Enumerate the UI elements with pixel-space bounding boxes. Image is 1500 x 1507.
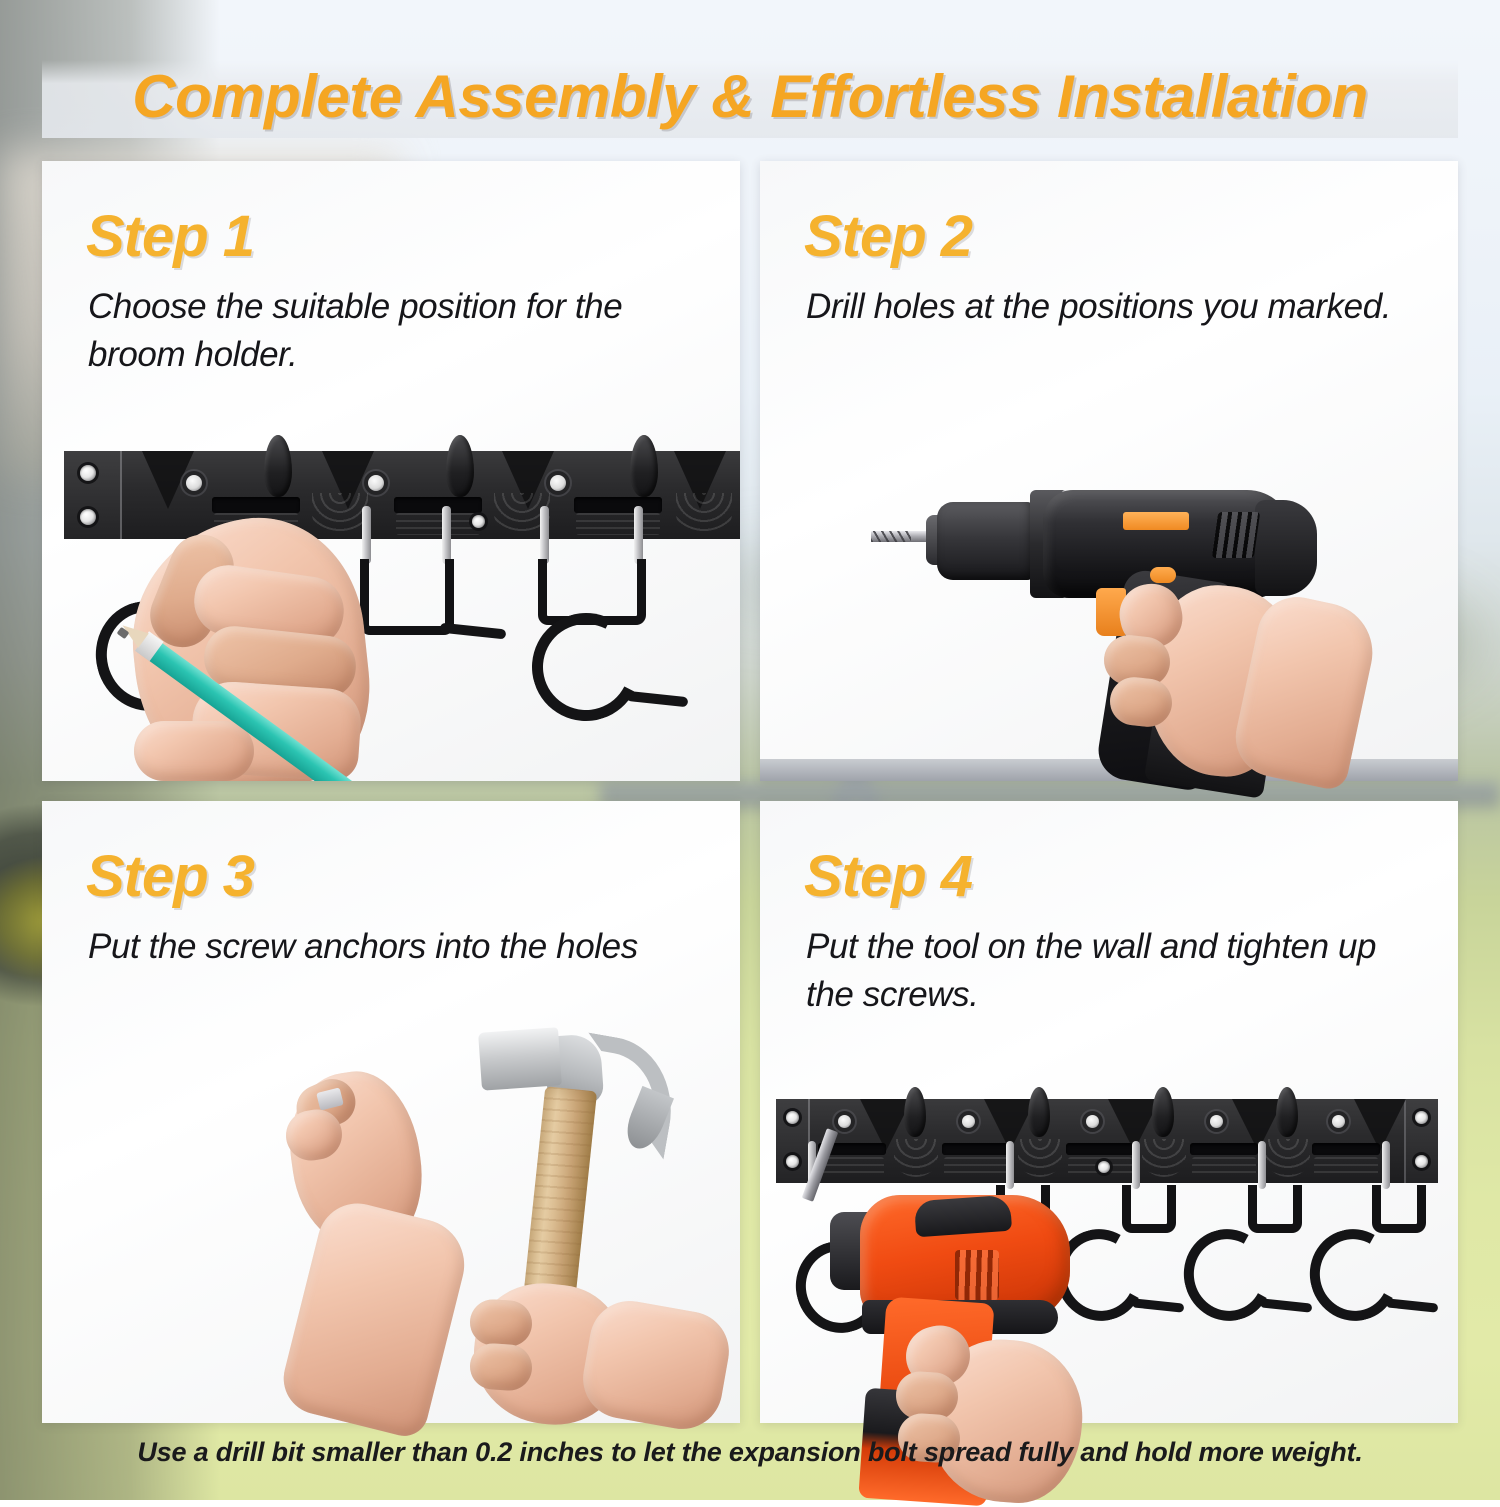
hook-stem: [634, 506, 643, 564]
step-panel-1: Step 1 Choose the suitable position for …: [42, 161, 740, 781]
step-1-title: Step 1: [86, 203, 254, 270]
rack-slot: [1066, 1143, 1134, 1155]
hook-u-4-3: [1122, 1185, 1176, 1233]
step-3-description: Put the screw anchors into the holes: [88, 923, 706, 971]
step-2-description: Drill holes at the positions you marked.: [806, 283, 1424, 331]
step-4-description: Put the tool on the wall and tighten up …: [806, 923, 1424, 1019]
hook-stem: [362, 506, 371, 564]
rack-screw-hole: [1415, 1155, 1428, 1168]
wrist: [134, 721, 254, 781]
rack-ridges: [1314, 1157, 1378, 1177]
rack-screw-hole: [1415, 1111, 1428, 1124]
rack-hole: [550, 475, 566, 491]
rack-endplate-left: [64, 451, 122, 539]
drill-dark-accent-4: [914, 1195, 1012, 1238]
rack-screw-hole: [80, 509, 96, 525]
rack-ridges: [396, 513, 480, 535]
rack-ridges: [944, 1157, 1008, 1177]
finger-3b: [468, 1298, 533, 1348]
rack-screw-hole: [472, 515, 485, 528]
rack-slot: [1312, 1143, 1380, 1155]
hook-u-4-4: [1248, 1185, 1302, 1233]
rack-hole: [1210, 1115, 1223, 1128]
hook-stem: [1382, 1141, 1390, 1189]
rack-slot: [574, 497, 662, 513]
drill-orange-accent-2: [1123, 512, 1189, 530]
rack-slot: [1190, 1143, 1258, 1155]
hammer-head: [478, 1027, 562, 1090]
hook-u-1: [360, 559, 454, 635]
rack-screw-hole: [80, 465, 96, 481]
hook-stem: [1006, 1141, 1014, 1189]
step-1-description: Choose the suitable position for the bro…: [88, 283, 706, 379]
rack-slot: [942, 1143, 1010, 1155]
drill-chuck-2: [937, 502, 1035, 580]
rack-screw-hole: [1098, 1161, 1110, 1173]
product-infographic: Complete Assembly & Effortless Installat…: [0, 0, 1500, 1500]
step-2-title: Step 2: [804, 203, 972, 270]
step-4-title: Step 4: [804, 843, 972, 910]
hook-stem: [1258, 1141, 1266, 1189]
rack-fan: [312, 493, 368, 535]
rack-ridges: [576, 513, 660, 535]
rack-hole: [1332, 1115, 1345, 1128]
drill-rear-cap-2: [1255, 500, 1317, 596]
page-title: Complete Assembly & Effortless Installat…: [42, 58, 1458, 136]
drill-bit-flutes-2: [871, 531, 911, 542]
rack-hole: [1086, 1115, 1099, 1128]
rack-ridges: [820, 1157, 884, 1177]
rack-slot: [212, 497, 300, 513]
rack-ridges: [1192, 1157, 1256, 1177]
rack-hole: [186, 475, 202, 491]
hook-stem: [442, 506, 451, 564]
rack-hole: [838, 1115, 851, 1128]
rack-hole: [368, 475, 384, 491]
hook-u-4-5: [1372, 1185, 1426, 1233]
finger-3c: [468, 1342, 533, 1392]
rack-screw-hole: [786, 1111, 799, 1124]
drill-vents-4: [955, 1250, 999, 1300]
rack-fan: [894, 1139, 938, 1177]
rack-fan: [1142, 1139, 1186, 1177]
drill-vents-2: [1212, 512, 1260, 558]
drill-direction-switch-2: [1150, 567, 1176, 583]
rack-hole: [962, 1115, 975, 1128]
rack-fan: [1018, 1139, 1062, 1177]
hook-stem: [1132, 1141, 1140, 1189]
step-3-title: Step 3: [86, 843, 254, 910]
footer-note: Use a drill bit smaller than 0.2 inches …: [42, 1432, 1458, 1472]
rack-fan: [676, 493, 732, 535]
rack-screw-hole: [786, 1155, 799, 1168]
rack-slot: [394, 497, 482, 513]
tool-rack-4: [776, 1099, 1438, 1183]
rack-fan: [1266, 1139, 1310, 1177]
hook-stem: [540, 506, 549, 564]
